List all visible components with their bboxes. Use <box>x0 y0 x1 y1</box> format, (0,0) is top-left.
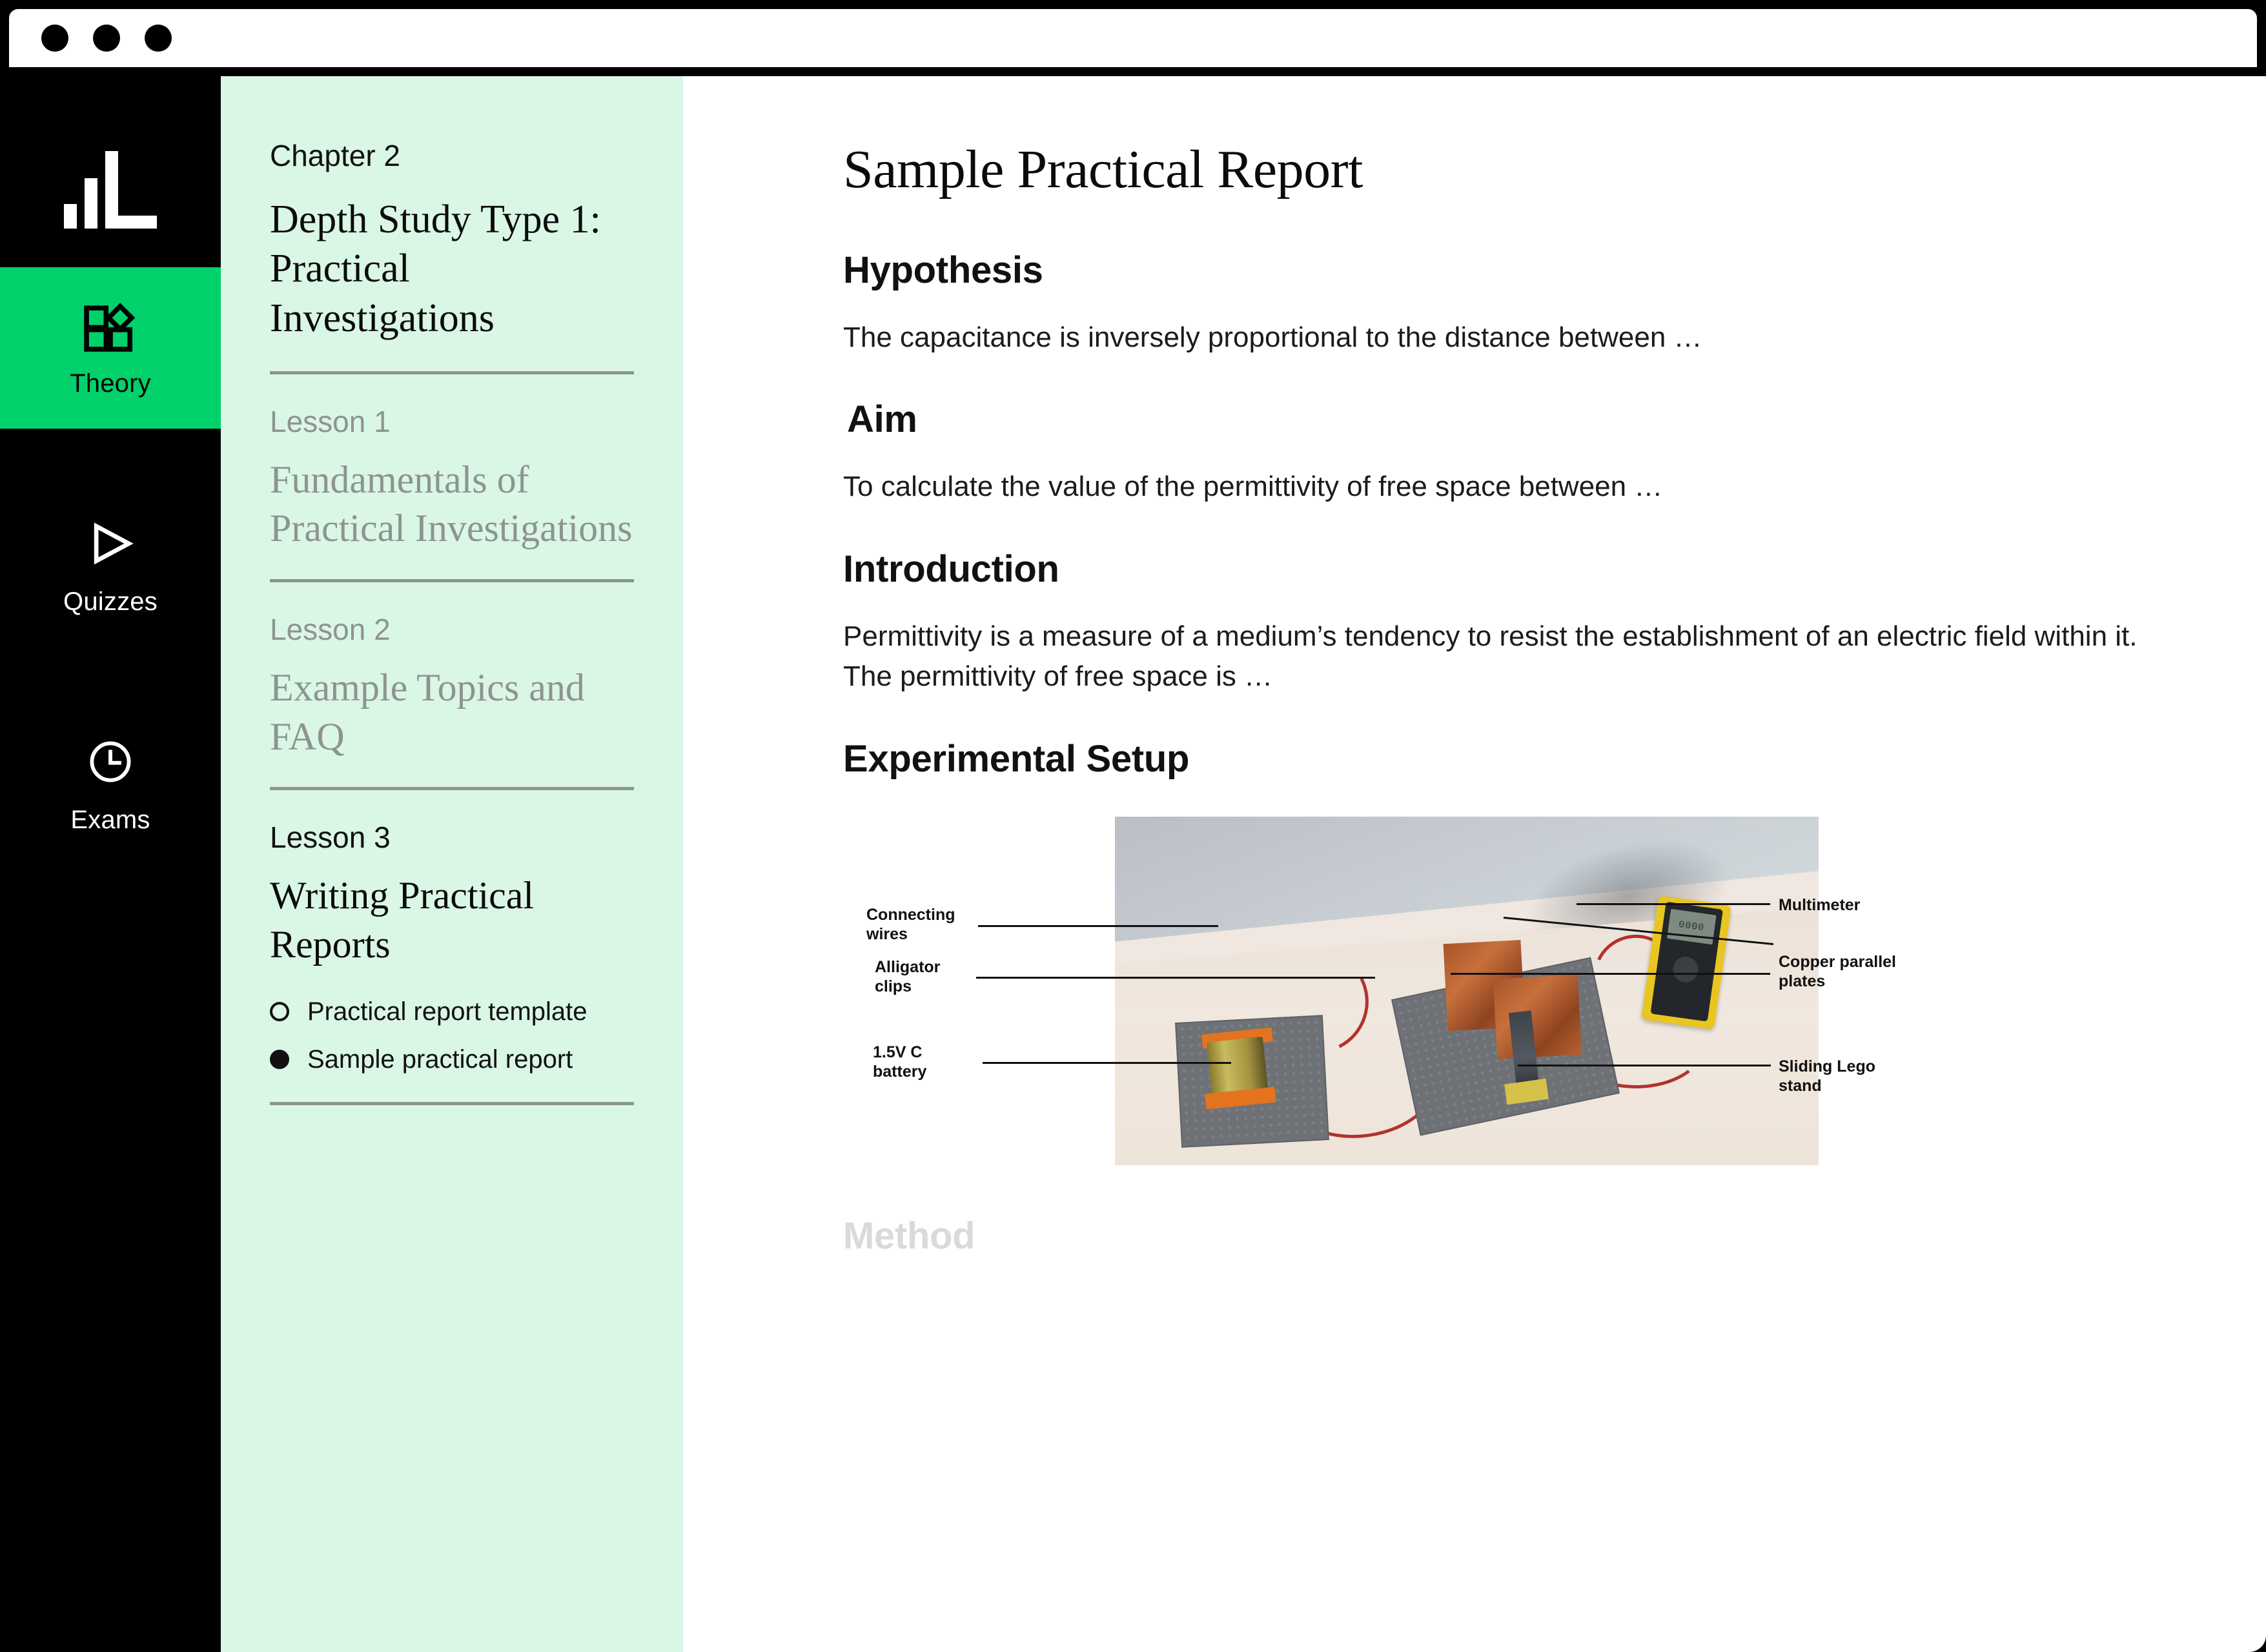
app-window: Theory Quizzes Exams Chapter 2 D <box>0 0 2266 1652</box>
sidebar-divider <box>270 371 634 374</box>
radio-unselected-icon <box>270 1002 289 1021</box>
page-title: Sample Practical Report <box>843 138 2189 201</box>
photo-multimeter-display: 0000 <box>1667 910 1717 945</box>
window-close-dot[interactable] <box>41 25 68 52</box>
figure-label-multimeter: Multimeter <box>1779 895 1940 915</box>
lesson-item-3[interactable]: Lesson 3 Writing Practical Reports Pract… <box>270 820 634 1076</box>
section-body-hypothesis: The capacitance is inversely proportiona… <box>843 318 2179 358</box>
rail-item-theory-label: Theory <box>70 369 151 398</box>
lesson-sidebar: Chapter 2 Depth Study Type 1: Practical … <box>221 76 683 1652</box>
rail-item-theory[interactable]: Theory <box>0 267 221 429</box>
experiment-figure: 0000 Connecting wires Alligator clips 1.… <box>1115 817 1819 1165</box>
rail-item-exams[interactable]: Exams <box>0 704 221 865</box>
figure-label-alligator-clips: Alligator clips <box>875 957 978 997</box>
radio-selected-icon <box>270 1050 289 1069</box>
rail-item-exams-label: Exams <box>70 806 150 835</box>
sidebar-divider <box>270 1102 634 1105</box>
leader-line-lego-stand <box>1518 1065 1771 1066</box>
next-section-preview: Method <box>843 1214 2189 1258</box>
clock-icon <box>83 735 138 789</box>
section-heading-experimental-setup: Experimental Setup <box>843 737 2189 780</box>
sublist-item-sample-practical-report[interactable]: Sample practical report <box>270 1043 634 1076</box>
lesson-1-kicker: Lesson 1 <box>270 404 634 439</box>
chapter-kicker: Chapter 2 <box>270 138 634 173</box>
leader-line-battery <box>983 1062 1231 1064</box>
window-titlebar <box>9 9 2257 67</box>
play-triangle-icon <box>83 516 138 571</box>
section-heading-aim: Aim <box>843 398 2189 441</box>
theory-grid-icon <box>83 298 138 352</box>
sublist-item-practical-report-template[interactable]: Practical report template <box>270 995 634 1028</box>
leader-line-alligator-clips <box>976 977 1375 979</box>
bar-chart-logo-icon <box>64 151 157 229</box>
figure-label-sliding-lego-stand: Sliding Lego stand <box>1779 1057 1921 1096</box>
lesson-2-kicker: Lesson 2 <box>270 612 634 647</box>
lesson-item-1[interactable]: Lesson 1 Fundamentals of Practical Inves… <box>270 404 634 553</box>
photo-battery <box>1207 1037 1268 1095</box>
rail-spacer-1 <box>0 429 221 485</box>
section-heading-hypothesis: Hypothesis <box>843 249 2189 292</box>
lesson-3-kicker: Lesson 3 <box>270 820 634 855</box>
capacitance-experiment-photo: 0000 <box>1115 817 1819 1165</box>
app-body: Theory Quizzes Exams Chapter 2 D <box>0 76 2266 1652</box>
section-heading-introduction: Introduction <box>843 547 2189 591</box>
lesson-3-sublist: Practical report template Sample practic… <box>270 995 634 1076</box>
section-body-aim: To calculate the value of the permittivi… <box>843 467 2179 507</box>
lesson-item-2[interactable]: Lesson 2 Example Topics and FAQ <box>270 612 634 761</box>
figure-label-connecting-wires: Connecting wires <box>866 905 979 944</box>
rail-item-quizzes[interactable]: Quizzes <box>0 485 221 647</box>
lesson-1-name: Fundamentals of Practical Investigations <box>270 456 634 553</box>
window-minimize-dot[interactable] <box>93 25 120 52</box>
sublist-item-label: Sample practical report <box>307 1043 573 1076</box>
leader-line-copper-plates-a <box>1451 973 1770 975</box>
app-logo[interactable] <box>0 112 221 267</box>
lesson-2-name: Example Topics and FAQ <box>270 664 634 761</box>
section-body-introduction: Permittivity is a measure of a medium’s … <box>843 617 2179 697</box>
sidebar-divider <box>270 579 634 582</box>
primary-nav-rail: Theory Quizzes Exams <box>0 76 221 1652</box>
window-maximize-dot[interactable] <box>145 25 172 52</box>
leader-line-connecting-wires <box>978 925 1218 927</box>
photo-multimeter-face: 0000 <box>1651 902 1724 1022</box>
sublist-item-label: Practical report template <box>307 995 587 1028</box>
leader-line-multimeter <box>1577 903 1770 905</box>
photo-copper-plate-2 <box>1493 975 1581 1059</box>
figure-label-battery: 1.5V C battery <box>873 1043 979 1082</box>
section-heading-method: Method <box>843 1214 2189 1258</box>
photo-multimeter-dial <box>1671 955 1700 984</box>
chapter-title: Depth Study Type 1: Practical Investigat… <box>270 195 634 343</box>
lesson-content: Sample Practical Report Hypothesis The c… <box>683 76 2266 1652</box>
rail-spacer-2 <box>0 647 221 704</box>
figure-label-copper-parallel-plates: Copper parallel plates <box>1779 952 1921 992</box>
rail-item-quizzes-label: Quizzes <box>63 587 158 617</box>
lesson-3-name: Writing Practical Reports <box>270 872 634 969</box>
sidebar-divider <box>270 787 634 790</box>
